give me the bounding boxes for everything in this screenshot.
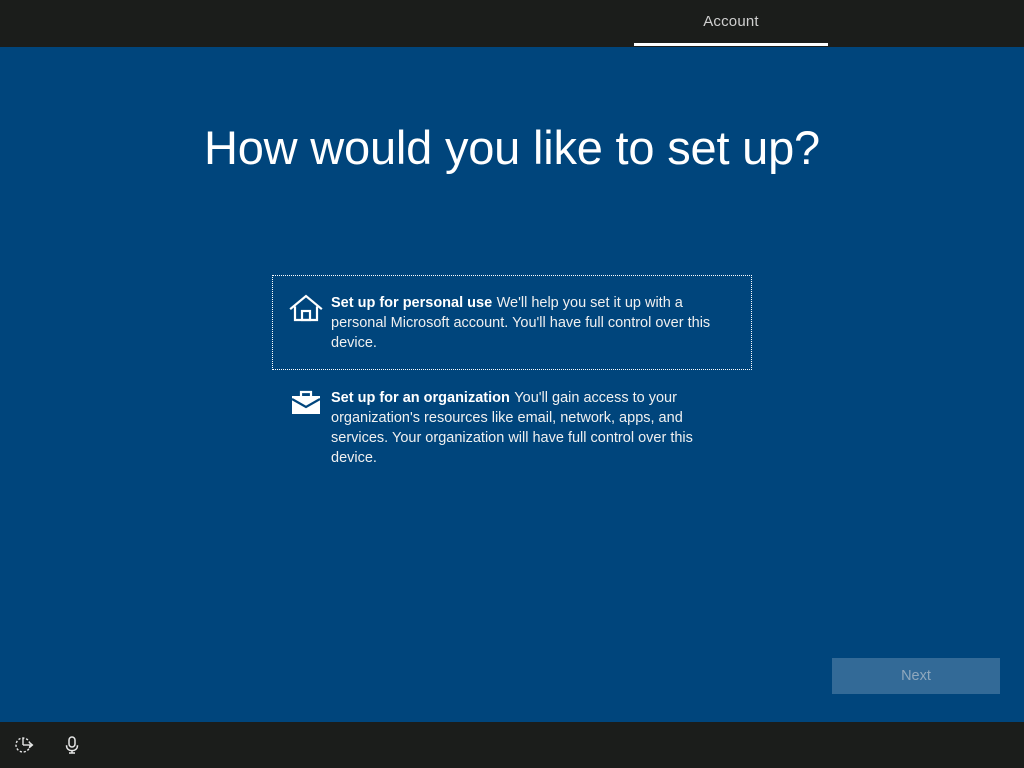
setup-options-list: Set up for personal use We'll help you s…: [272, 275, 752, 485]
option-organization-title: Set up for an organization: [331, 390, 510, 406]
option-organization[interactable]: Set up for an organization You'll gain a…: [272, 370, 752, 485]
briefcase-icon: [289, 388, 331, 422]
tab-active-indicator: [634, 43, 828, 46]
oobe-setup-screen: Account How would you like to set up? Se…: [0, 0, 1024, 768]
option-organization-text: Set up for an organization You'll gain a…: [331, 387, 737, 468]
microphone-icon[interactable]: [60, 733, 84, 757]
option-personal-use[interactable]: Set up for personal use We'll help you s…: [272, 275, 752, 370]
option-personal-use-text: Set up for personal use We'll help you s…: [331, 292, 737, 353]
next-button[interactable]: Next: [832, 658, 1000, 694]
page-title: How would you like to set up?: [0, 120, 1024, 176]
content-area: How would you like to set up? Set up for…: [0, 47, 1024, 722]
option-personal-use-title: Set up for personal use: [331, 295, 492, 311]
tab-account[interactable]: Account: [634, 0, 828, 47]
taskbar: [0, 722, 1024, 768]
header-bar: Account: [0, 0, 1024, 47]
home-icon: [289, 293, 331, 327]
ease-of-access-icon[interactable]: [12, 733, 36, 757]
tab-account-label: Account: [703, 14, 759, 33]
